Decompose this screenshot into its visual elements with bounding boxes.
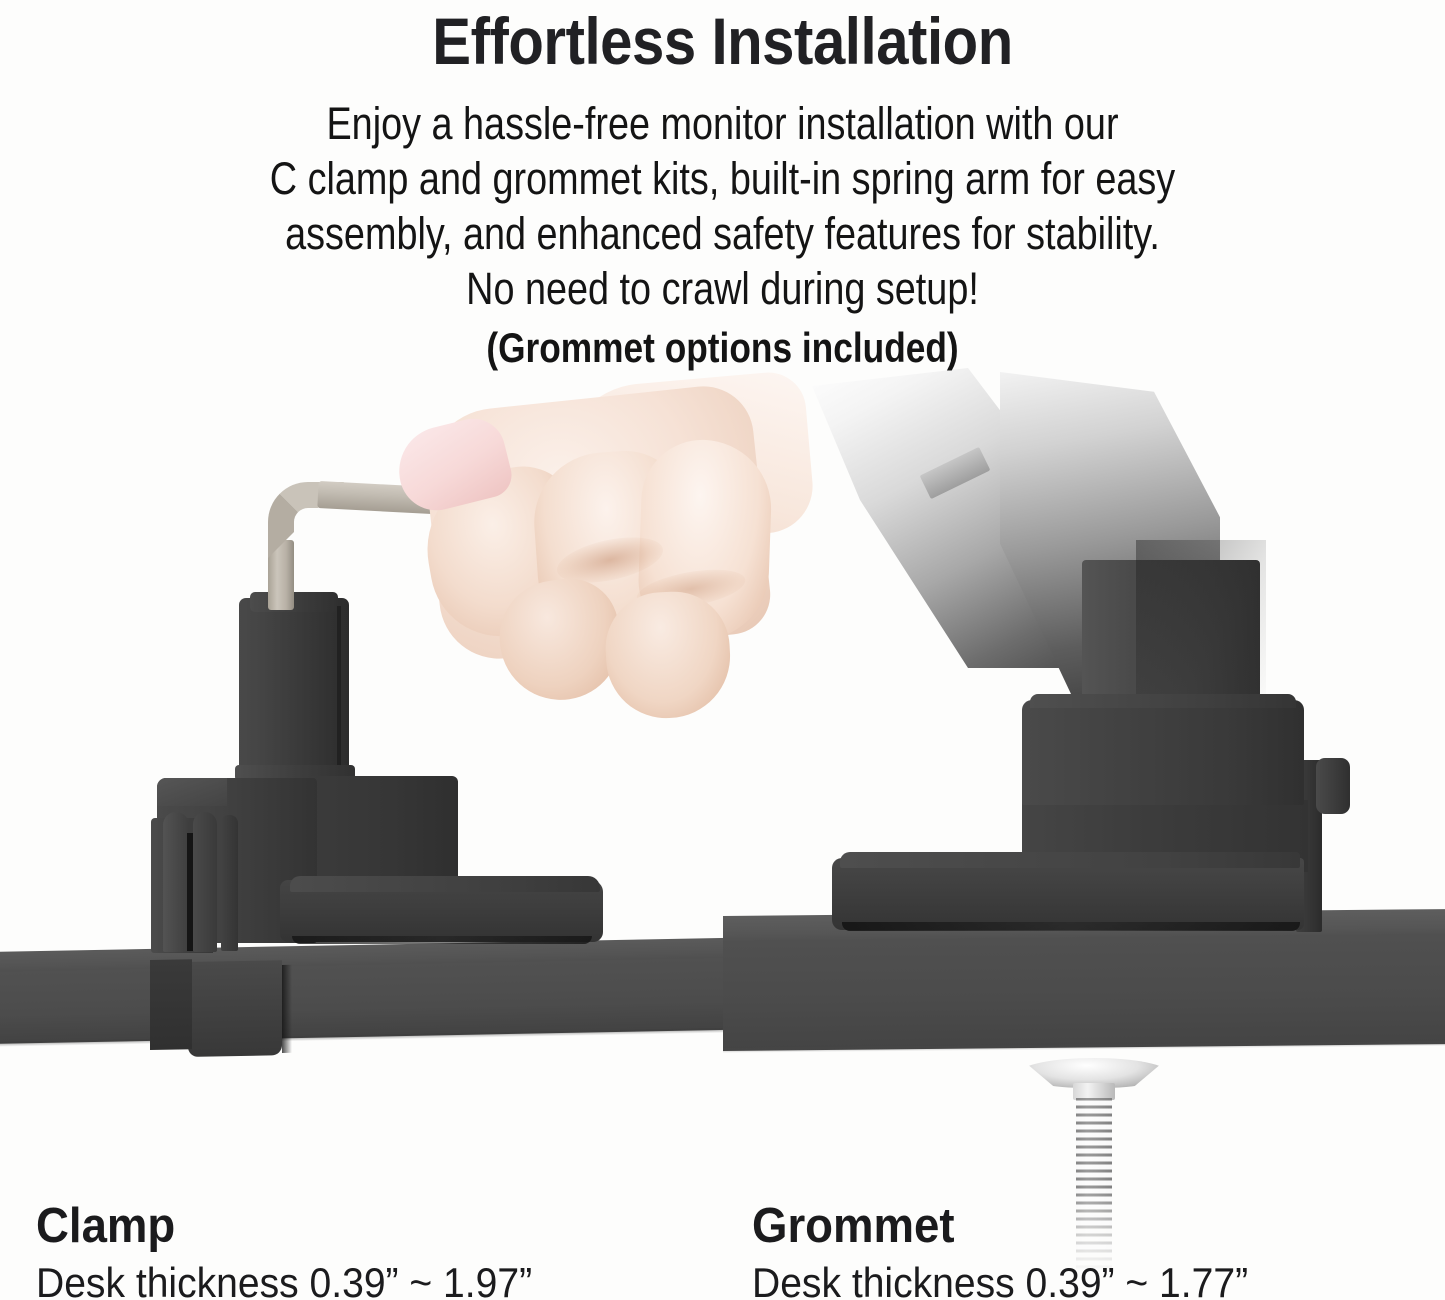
monitor-arm-shading xyxy=(1136,540,1266,715)
hand-finger-lower-right xyxy=(603,589,733,721)
grommet-options-note: (Grommet options included) xyxy=(116,316,1330,375)
description-line-4: No need to crawl during setup! xyxy=(116,261,1330,316)
grommet-base-body xyxy=(1022,700,1304,805)
header-text-block: Effortless Installation Enjoy a hassle-f… xyxy=(0,0,1445,375)
grommet-label-block: Grommet Desk thickness 0.39” ~ 1.77” xyxy=(752,1198,1442,1300)
description-line-2: C clamp and grommet kits, built-in sprin… xyxy=(116,151,1330,206)
grommet-label-title: Grommet xyxy=(752,1198,1394,1254)
clamp-label-title: Clamp xyxy=(36,1198,650,1254)
product-infographic: Effortless Installation Enjoy a hassle-f… xyxy=(0,0,1445,1300)
clamp-label-spec: Desk thickness 0.39” ~ 1.97” xyxy=(36,1254,650,1300)
grommet-foot-plate xyxy=(832,858,1304,930)
grommet-foot-top-face xyxy=(840,852,1300,868)
description-line-3: assembly, and enhanced safety features f… xyxy=(116,206,1330,261)
page-title: Effortless Installation xyxy=(87,0,1359,80)
grommet-foot-underside xyxy=(842,922,1300,931)
description-line-1: Enjoy a hassle-free monitor installation… xyxy=(116,96,1330,151)
grommet-locking-pin xyxy=(1316,758,1350,814)
grommet-base-top-lip xyxy=(1030,694,1296,708)
grommet-label-spec: Desk thickness 0.39” ~ 1.77” xyxy=(752,1254,1394,1300)
clamp-label-block: Clamp Desk thickness 0.39” ~ 1.97” xyxy=(36,1198,696,1300)
description-paragraph: Enjoy a hassle-free monitor installation… xyxy=(116,80,1330,375)
